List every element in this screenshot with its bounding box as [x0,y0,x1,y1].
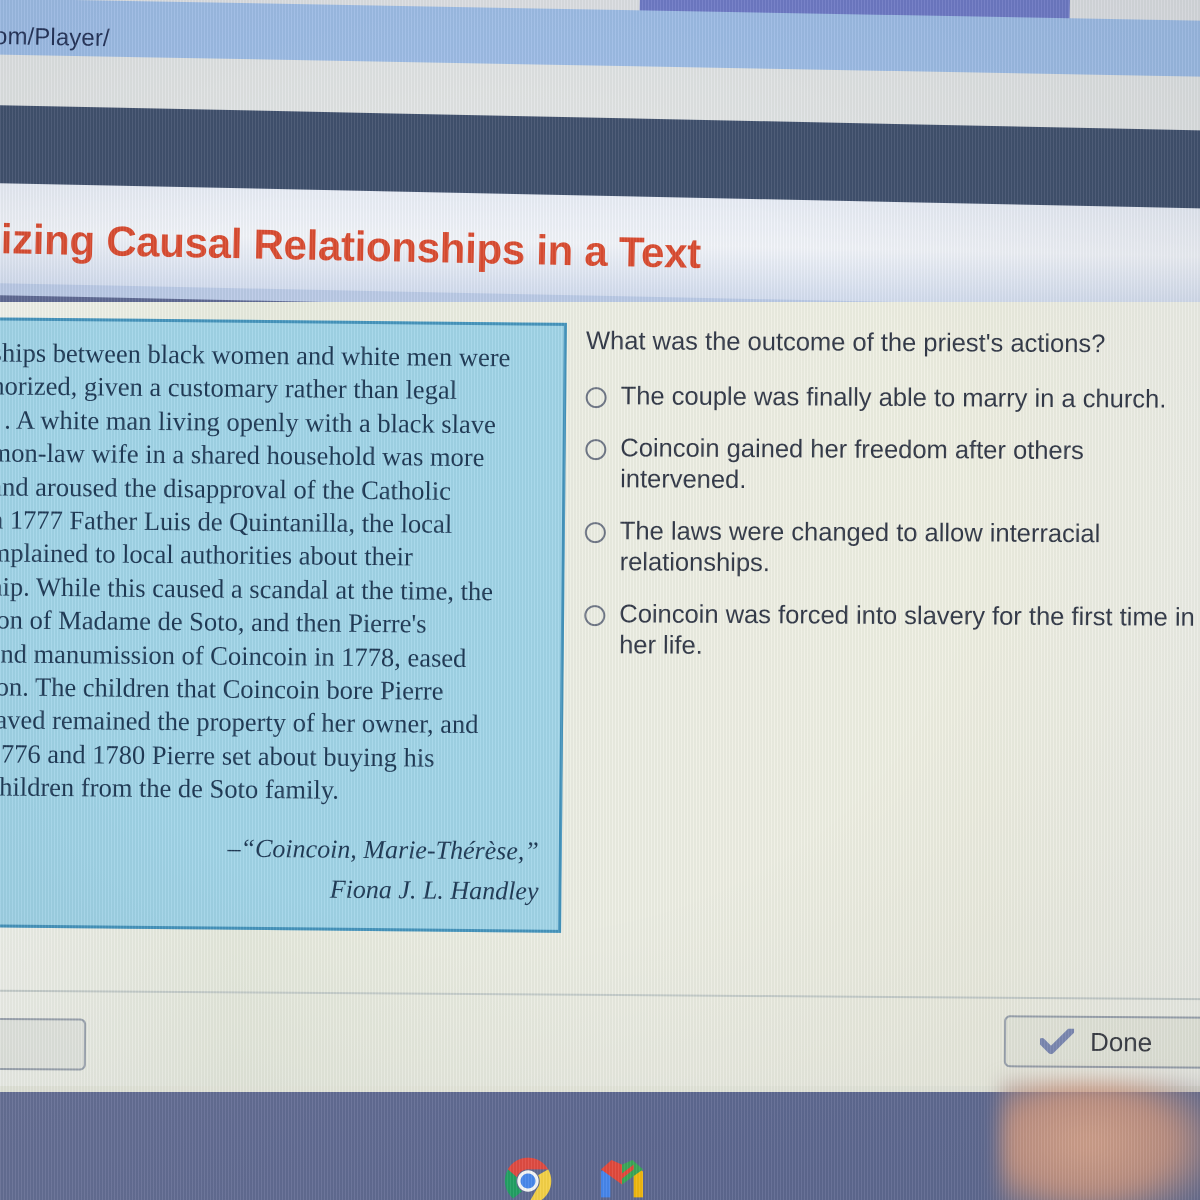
passage-line: and aroused the disapproval of the Catho… [0,470,542,509]
done-button[interactable]: Done [1004,1015,1200,1068]
passage-excerpt-box: ships between black women and white men … [0,317,567,932]
os-taskbar [0,1092,1200,1200]
radio-button-icon[interactable] [585,522,606,543]
photographed-screen: om/Player/ gnizing Causal Relationships … [0,0,1200,1200]
answer-option-label: Coincoin was forced into slavery for the… [619,599,1200,665]
question-prompt: What was the outcome of the priest's act… [586,326,1200,361]
passage-line: ships between black women and white men … [0,336,544,375]
checkmark-icon [1040,1029,1074,1055]
passage-line: mplained to local authorities about thei… [0,537,542,576]
passage-line: children from the de Soto family. [0,771,540,810]
radio-button-icon[interactable] [586,387,607,408]
gmail-icon[interactable] [594,1153,650,1200]
passage-line: 1776 and 1780 Pierre set about buying hi… [0,737,540,776]
answer-option-label: The laws were changed to allow interraci… [620,516,1200,582]
answer-option-c[interactable]: The laws were changed to allow interraci… [585,516,1200,582]
passage-line: hip. While this caused a scandal at the … [0,570,541,609]
done-button-label: Done [1090,1026,1152,1057]
passage-line: laved remained the property of her owner… [0,704,540,743]
passage-line: and manumission of Coincoin in 1778, eas… [0,637,541,676]
answer-option-b[interactable]: Coincoin gained her freedom after others… [585,433,1200,499]
address-bar-url[interactable]: om/Player/ [0,23,110,53]
passage-line: . . A white man living openly with a bla… [0,403,543,442]
answer-option-label: The couple was finally able to marry in … [621,381,1167,415]
radio-button-icon[interactable] [584,605,605,626]
passage-line: n 1777 Father Luis de Quintanilla, the l… [0,503,542,542]
answer-option-label: Coincoin gained her freedom after others… [620,433,1200,499]
passage-attribution-title: –“Coincoin, Marie-Thérèse,” [0,826,539,871]
passage-line: ion of Madame de Soto, and then Pierre's [0,604,541,643]
undo-button[interactable]: o [0,1017,86,1070]
answer-option-a[interactable]: The couple was finally able to marry in … [586,381,1200,416]
passage-line: mon-law wife in a shared household was m… [0,437,543,476]
passage-attribution-author: Fiona J. L. Handley [0,866,539,911]
radio-button-icon[interactable] [585,439,606,460]
passage-line: ion. The children that Coincoin bore Pie… [0,670,541,709]
chrome-icon[interactable] [500,1153,556,1200]
answer-option-d[interactable]: Coincoin was forced into slavery for the… [584,599,1200,665]
question-panel: What was the outcome of the priest's act… [584,326,1200,686]
passage-line: horized, given a customary rather than l… [0,370,543,409]
